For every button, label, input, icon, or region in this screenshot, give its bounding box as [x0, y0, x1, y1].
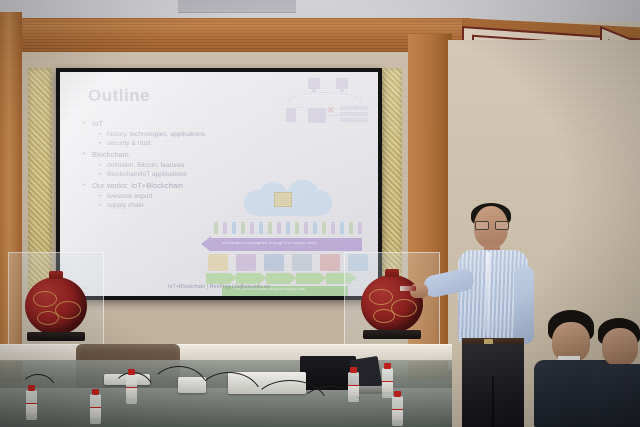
glasses-icon [475, 221, 507, 228]
bottle-label [348, 385, 359, 396]
trouser-seam [492, 376, 494, 427]
photo-scene: Outline ✖ IoT history, technologies, app [0, 0, 640, 427]
water-bottle [348, 372, 359, 402]
store-icon [320, 254, 340, 271]
bullet-l1: Our works: IoT+Blockchain [82, 181, 272, 190]
vase-neck [385, 269, 399, 277]
presenter-right-arm [514, 266, 534, 344]
presenter [440, 206, 544, 427]
bullet-l2: Blockchain/IoT applications [98, 171, 272, 178]
bottle-cap [28, 385, 35, 391]
bottle-label [90, 407, 101, 418]
water-bottle [126, 374, 137, 404]
audience-head [602, 328, 638, 366]
presentation-slide: Outline ✖ IoT history, technologies, app [60, 72, 378, 296]
information-flow-label: Information propagates through the suppl… [222, 240, 317, 245]
bottle-cap [128, 369, 135, 375]
shirt-placket [486, 252, 490, 336]
audience-member-back [596, 318, 640, 427]
bottle-label [26, 403, 37, 414]
red-dragon-vase [25, 277, 87, 335]
vase-stand [363, 330, 421, 339]
bottle-label [382, 381, 393, 392]
water-bottle [90, 394, 101, 424]
slide-footer: IoT+Blockchain | RenPing Liu@uts.edu.au [60, 284, 378, 290]
data-tick-row [214, 222, 362, 234]
wooden-cornice-beam [0, 18, 470, 54]
bottle-label [392, 409, 403, 420]
audience-jacket [590, 364, 640, 427]
vitrine-right [344, 252, 440, 346]
water-bottle [392, 396, 403, 426]
cloud-box-icon [274, 192, 292, 207]
warehouse-icon [292, 254, 312, 271]
bottle-label [126, 387, 137, 398]
air-vent-icon [178, 0, 296, 13]
bottle-cap [350, 367, 357, 373]
laser-pointer-icon [400, 286, 416, 291]
bottle-cap [384, 363, 391, 369]
bullet-l1: Blockchain [82, 150, 272, 159]
bottle-cap [92, 389, 99, 395]
bullet-l2: definition, Bitcoin, features [98, 162, 272, 169]
bullet-l2: security & trust [98, 140, 272, 147]
display-ledge [0, 344, 452, 361]
water-bottle [382, 368, 393, 398]
bullet-l2: history, technologies, applications [98, 131, 272, 138]
projection-screen: Outline ✖ IoT history, technologies, app [60, 72, 378, 296]
wood-grain-texture [0, 18, 470, 54]
bullet-l1: IoT [82, 119, 272, 128]
network-diagram-icon: ✖ [286, 78, 372, 134]
bottle-cap [394, 391, 401, 397]
information-flow-arrow: Information propagates through the suppl… [210, 238, 362, 251]
vase-stand [27, 332, 85, 341]
factory-icon [236, 254, 256, 271]
vitrine-left [8, 252, 104, 346]
farm-icon [208, 254, 228, 271]
truck-icon [264, 254, 284, 271]
slide-title: Outline [88, 86, 150, 106]
water-bottle [26, 390, 37, 420]
vase-neck [49, 271, 63, 279]
